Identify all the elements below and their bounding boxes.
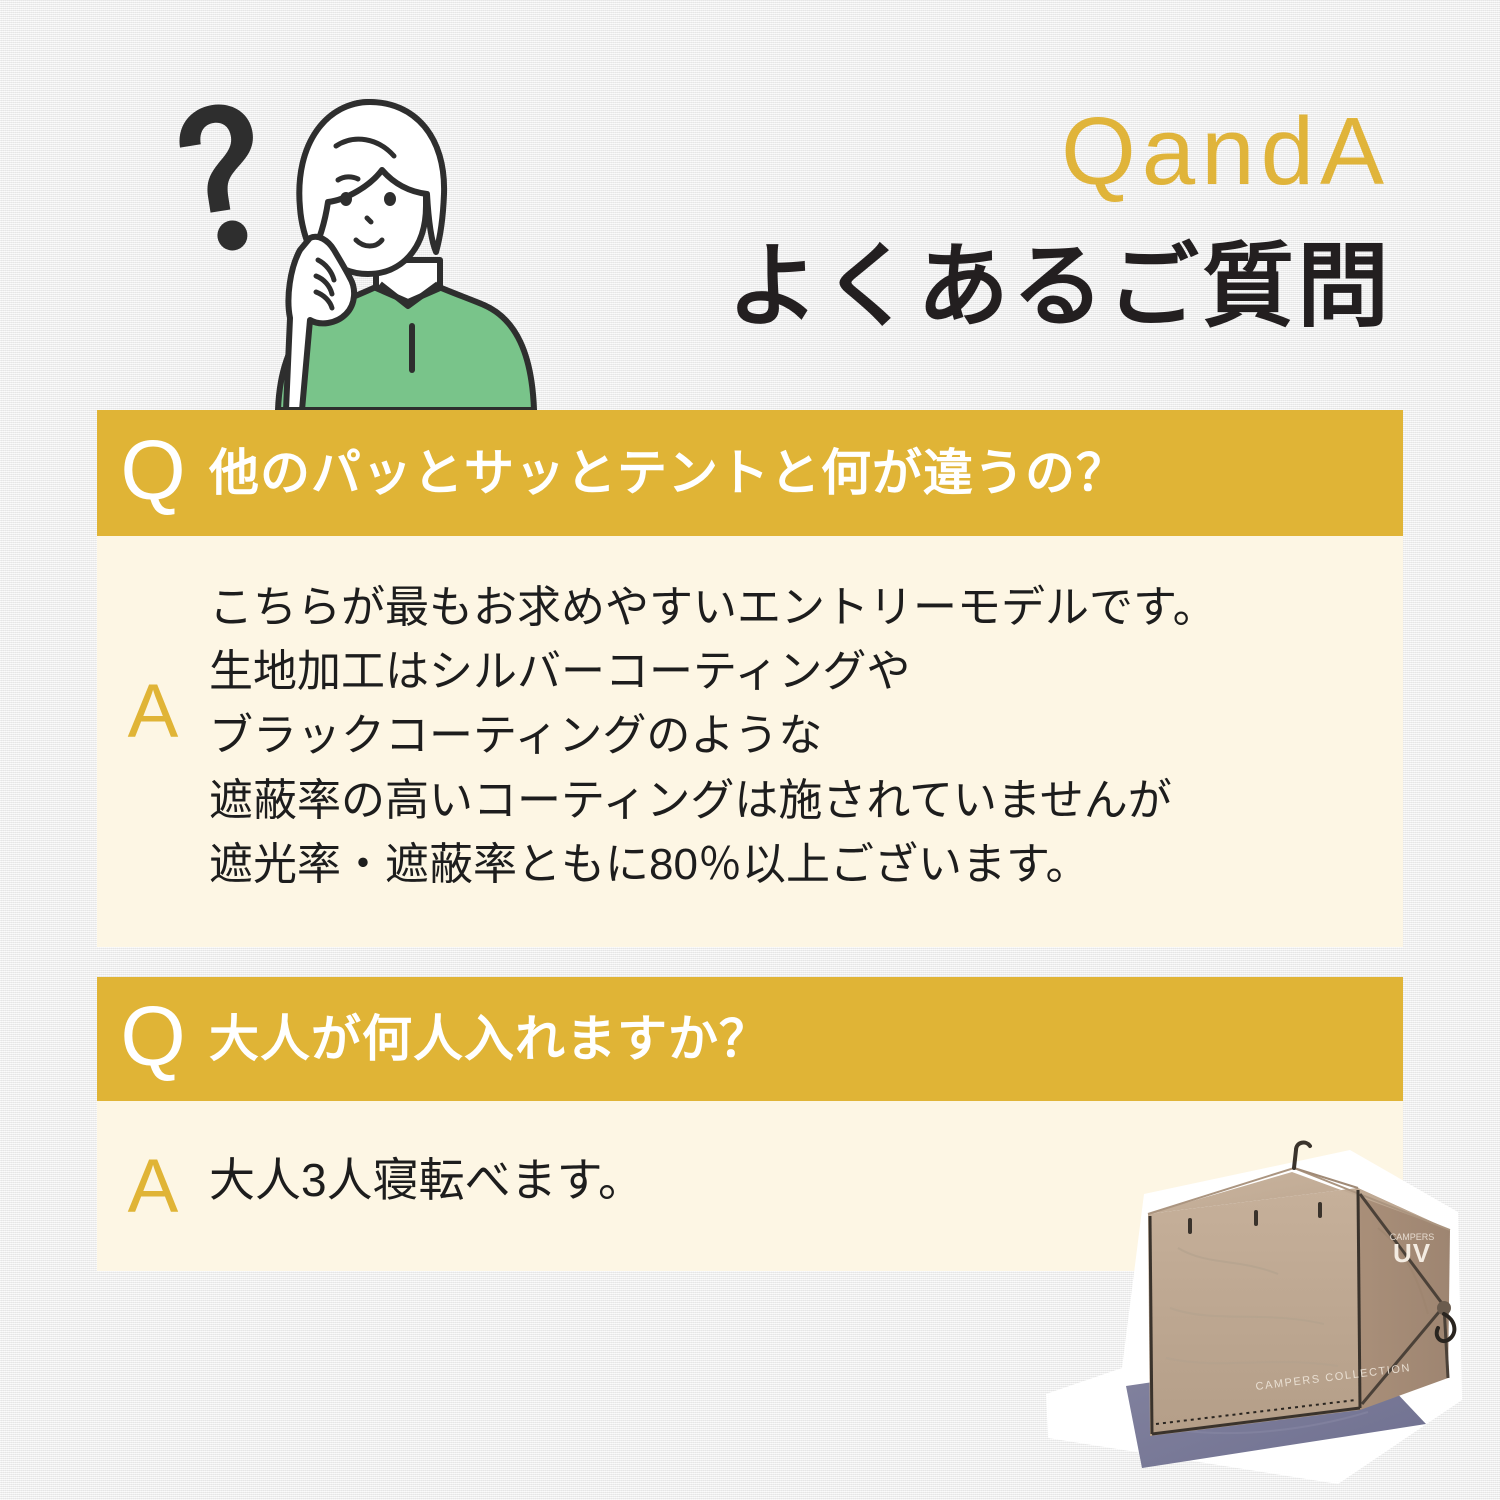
svg-text:UV: UV xyxy=(1393,1238,1431,1268)
answer-letter: A xyxy=(97,1141,209,1225)
pop-up-tent-photo: CAMPERS UV CAMPERS COLLECTION xyxy=(1038,1138,1490,1500)
answer-line: 生地加工はシルバーコーティングや xyxy=(209,640,1383,704)
answer-text: こちらが最もお求めやすいエントリーモデルです。 生地加工はシルバーコーティングや… xyxy=(209,570,1403,897)
question-bar: Q 他のパッとサッとテントと何が違うの？ xyxy=(97,410,1403,536)
faq-page: QandA よくあるご質問 xyxy=(0,0,1500,1500)
uv-label: CAMPERS UV xyxy=(1390,1232,1435,1268)
question-mark-icon xyxy=(174,99,270,256)
question-text: 他のパッとサッとテントと何が違うの？ xyxy=(209,446,1403,501)
question-letter: Q xyxy=(97,428,209,518)
answer-line: 遮光率・遮蔽率ともに80％以上ございます。 xyxy=(209,833,1383,897)
answer-line: ブラックコーティングのような xyxy=(209,704,1383,768)
answer-line: 遮蔽率の高いコーティングは施されていませんが xyxy=(209,769,1383,833)
page-title-japanese: よくあるご質問 xyxy=(560,236,1392,339)
faq-item: Q 他のパッとサッとテントと何が違うの？ A こちらが最もお求めやすいエントリー… xyxy=(97,410,1403,947)
answer-letter: A xyxy=(97,570,209,750)
answer-panel: A こちらが最もお求めやすいエントリーモデルです。 生地加工はシルバーコーティン… xyxy=(97,536,1403,947)
question-letter: Q xyxy=(97,994,209,1084)
thinking-woman-illustration xyxy=(150,88,540,410)
answer-line: こちらが最もお求めやすいエントリーモデルです。 xyxy=(209,576,1383,640)
question-text: 大人が何人入れますか？ xyxy=(209,1012,1403,1067)
page-title-english: QandA xyxy=(930,104,1390,200)
question-bar: Q 大人が何人入れますか？ xyxy=(97,977,1403,1101)
